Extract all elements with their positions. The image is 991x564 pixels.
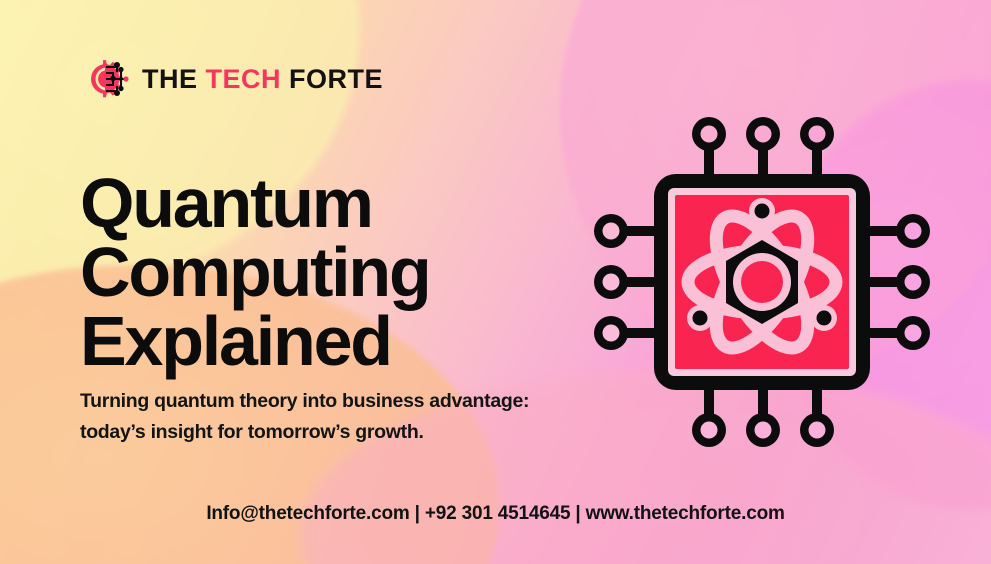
chip-pin-left-1 bbox=[594, 214, 662, 248]
chip-pin-right-1 bbox=[862, 214, 930, 248]
footer-contact-line: Info@thetechforte.com | +92 301 4514645 … bbox=[206, 503, 784, 525]
brand-word-forte: FORTE bbox=[289, 64, 383, 94]
chip-pin-right-3 bbox=[862, 316, 930, 350]
banner-canvas: THE TECH FORTE Quantum Computing Explain… bbox=[0, 0, 991, 564]
chip-pin-left-3 bbox=[594, 316, 662, 350]
title-line-3: Explained bbox=[80, 307, 600, 376]
gear-circuit-icon bbox=[80, 54, 132, 104]
chip-pin-top-2 bbox=[746, 117, 780, 184]
brand-word-the: THE bbox=[142, 64, 206, 94]
footer-website[interactable]: www.thetechforte.com bbox=[586, 503, 785, 524]
brand-word-tech: TECH bbox=[206, 64, 290, 94]
quantum-chip-icon bbox=[582, 104, 942, 460]
chip-pin-right-2 bbox=[862, 265, 930, 299]
chip-pin-bottom-2 bbox=[746, 380, 780, 447]
footer-bar: Info@thetechforte.com | +92 301 4514645 … bbox=[0, 503, 991, 525]
chip-pin-bottom-1 bbox=[692, 380, 726, 447]
footer-phone[interactable]: +92 301 4514645 bbox=[425, 503, 570, 524]
brand-wordmark: THE TECH FORTE bbox=[142, 66, 383, 93]
page-title: Quantum Computing Explained bbox=[80, 169, 600, 377]
chip-pin-top-3 bbox=[800, 117, 834, 184]
title-line-2: Computing bbox=[80, 238, 600, 307]
brand-logo[interactable]: THE TECH FORTE bbox=[80, 54, 383, 104]
title-line-1: Quantum bbox=[80, 169, 600, 238]
chip-pin-left-2 bbox=[594, 265, 662, 299]
chip-pin-bottom-3 bbox=[800, 380, 834, 447]
chip-pin-top-1 bbox=[692, 117, 726, 184]
footer-separator-1: | bbox=[410, 503, 425, 524]
banner-content: THE TECH FORTE Quantum Computing Explain… bbox=[0, 0, 991, 564]
footer-email[interactable]: Info@thetechforte.com bbox=[206, 503, 409, 524]
footer-separator-2: | bbox=[570, 503, 585, 524]
